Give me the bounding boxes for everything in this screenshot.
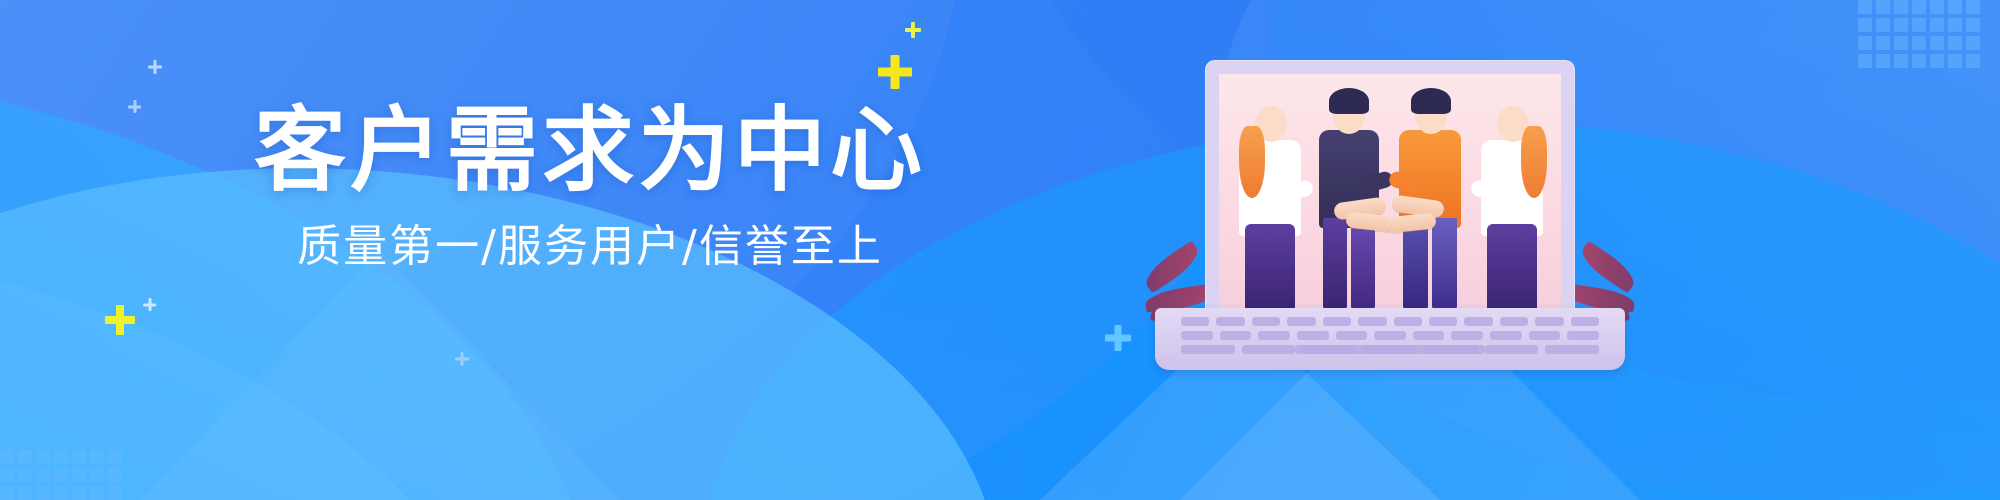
keyboard-row	[1181, 331, 1599, 340]
laptop-lid	[1205, 60, 1575, 310]
plus-yellow-small-icon	[905, 22, 921, 38]
promo-banner: 客户需求为中心 质量第一/服务用户/信誉至上	[0, 0, 2000, 500]
laptop-illustration	[1155, 60, 1625, 360]
plus-white-mid-icon	[148, 60, 162, 74]
plus-yellow-bottom-icon	[105, 305, 135, 335]
plus-white-far-bottom-icon	[455, 352, 469, 366]
plus-cyan-bottom-icon	[1105, 325, 1131, 351]
plus-yellow-large-icon	[878, 55, 912, 89]
joined-hands-cluster	[1330, 186, 1450, 238]
plus-white-bottom-small-icon	[143, 298, 156, 311]
laptop-base-keyboard	[1155, 308, 1625, 370]
keyboard-row	[1181, 317, 1599, 326]
background-triangle-left	[140, 250, 620, 500]
banner-copy: 客户需求为中心 质量第一/服务用户/信誉至上	[250, 105, 930, 271]
person-woman-left	[1225, 74, 1317, 310]
plus-white-left-icon	[128, 100, 141, 113]
laptop-screen	[1219, 74, 1561, 310]
banner-subline: 质量第一/服务用户/信誉至上	[250, 223, 930, 271]
keyboard-spacebar	[1295, 345, 1485, 354]
banner-headline: 客户需求为中心	[250, 105, 930, 197]
person-woman-right	[1465, 74, 1559, 310]
dot-grid-bottom-left	[0, 450, 122, 500]
dot-grid-top-right	[1858, 0, 1980, 68]
